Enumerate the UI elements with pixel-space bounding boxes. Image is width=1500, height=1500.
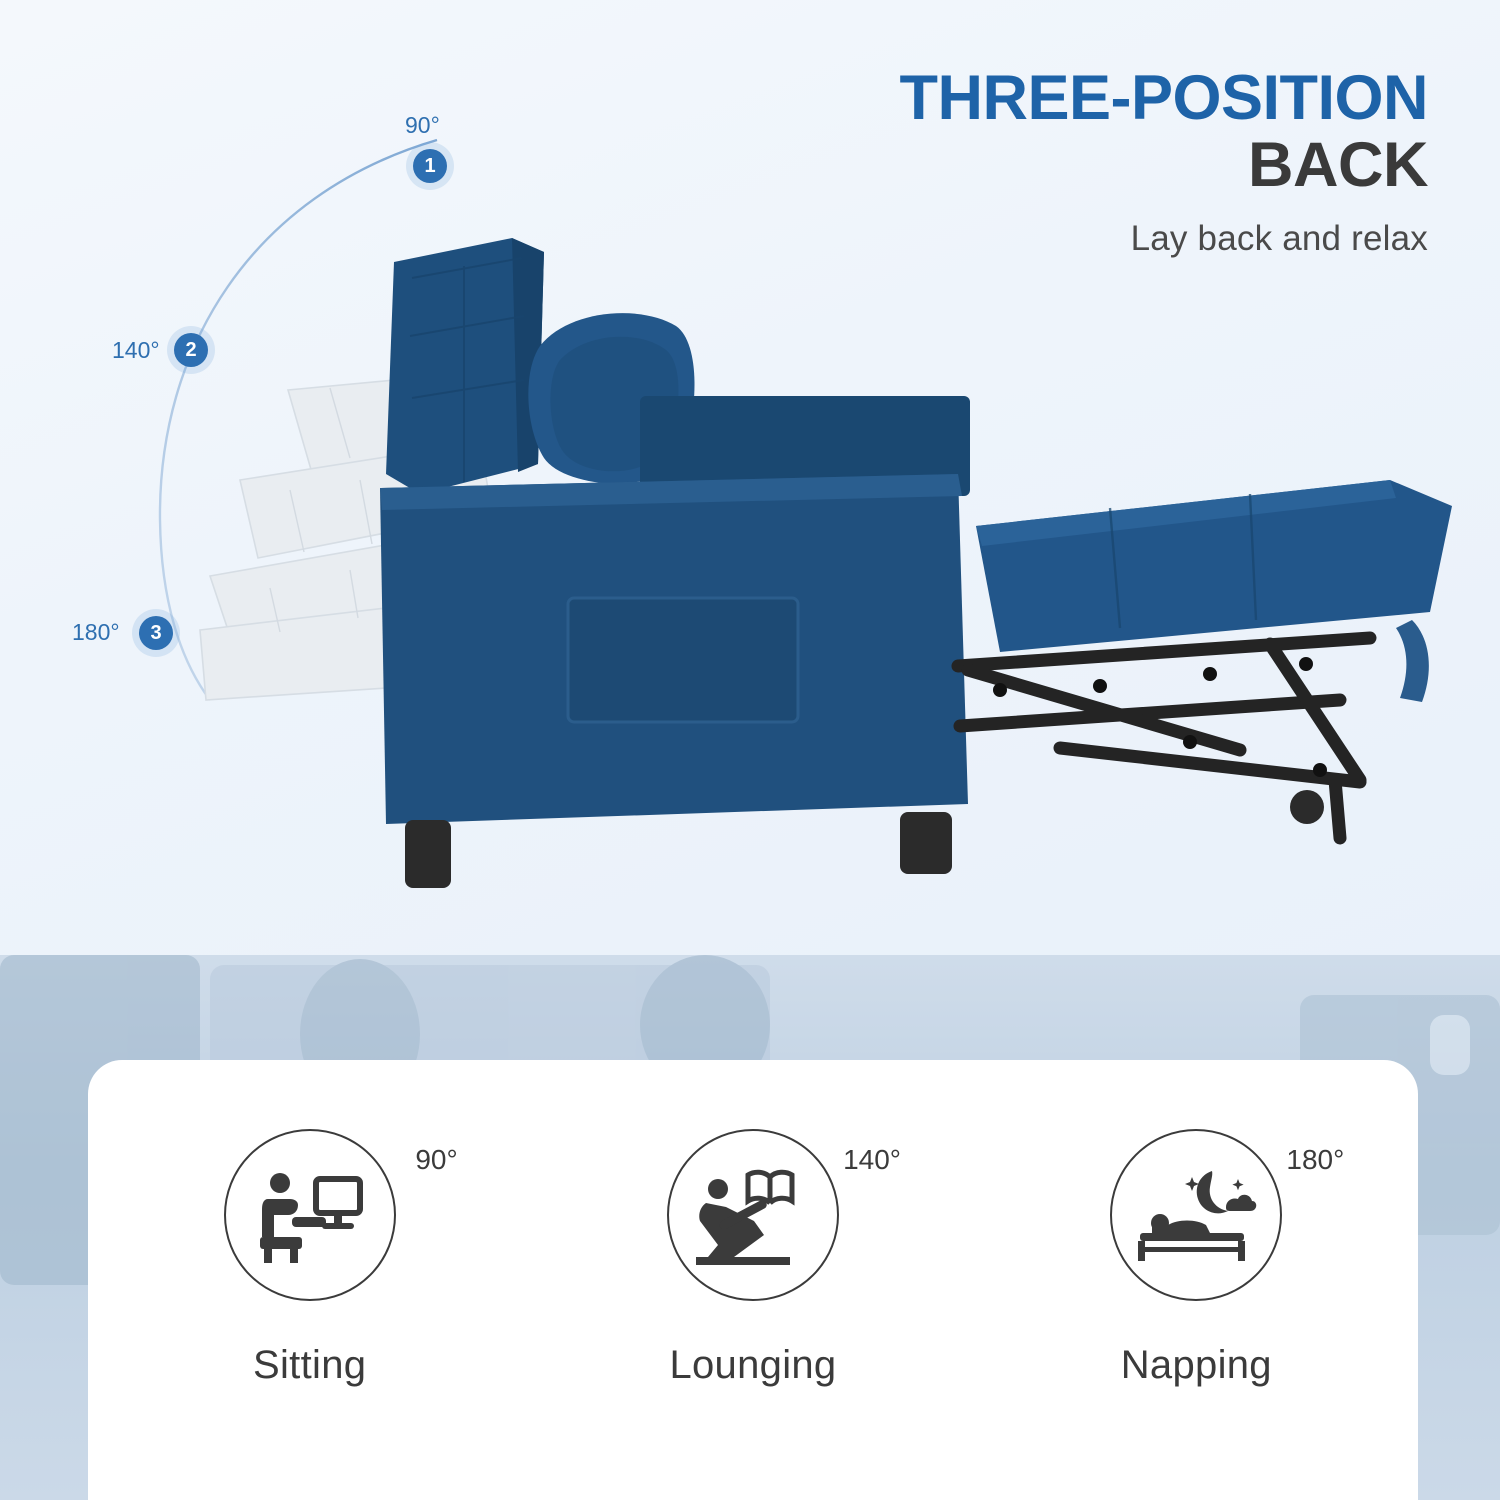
product-infographic: THREE-POSITION BACK Lay back and relax 9… (0, 0, 1500, 1500)
side-pocket (568, 598, 798, 722)
person-sleeping-bed-icon (1134, 1163, 1258, 1267)
sofa-illustration (0, 0, 1500, 955)
feature-card: 90° Sitting (88, 1060, 1418, 1500)
cloud-shape (1226, 1194, 1256, 1210)
napping-degrees: 180° (1286, 1144, 1344, 1176)
lounging-icon-circle (667, 1129, 839, 1301)
lounging-degrees: 140° (843, 1144, 901, 1176)
napping-caption: Napping (1121, 1343, 1272, 1388)
sofa-side-body (372, 452, 982, 862)
sofa-foot-left (405, 820, 451, 888)
lounging-caption: Lounging (669, 1343, 836, 1388)
feature-sitting: 90° Sitting (130, 1122, 490, 1388)
feature-napping: 180° Napping (1016, 1122, 1376, 1388)
caster-wheel (1290, 790, 1324, 824)
sitting-degrees: 90° (415, 1144, 457, 1176)
recliner-metal-frame (940, 630, 1420, 860)
napping-icon-circle (1110, 1129, 1282, 1301)
feature-lounging: 140° Lounging (573, 1122, 933, 1388)
person-reading-recliner-icon (694, 1163, 812, 1267)
sitting-caption: Sitting (253, 1343, 366, 1388)
person-watching-tv-icon (254, 1163, 366, 1267)
feature-list: 90° Sitting (88, 1060, 1418, 1500)
moon-shape (1197, 1171, 1228, 1213)
top-panel: THREE-POSITION BACK Lay back and relax 9… (0, 0, 1500, 955)
sitting-icon-circle (224, 1129, 396, 1301)
